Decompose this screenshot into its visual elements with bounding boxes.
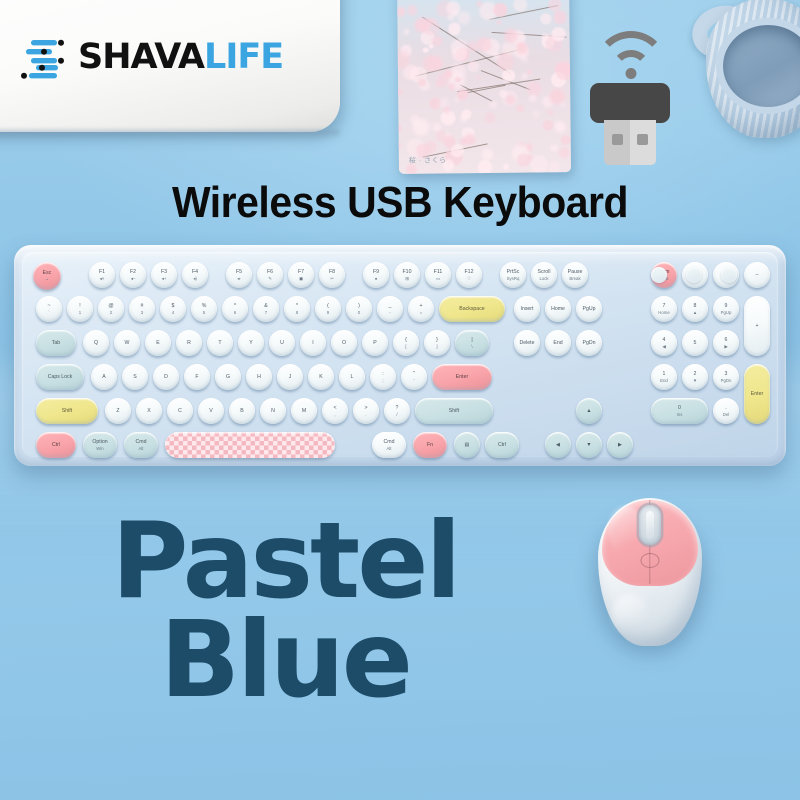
key-x[interactable]: X	[136, 398, 162, 424]
key-b[interactable]: B	[229, 398, 255, 424]
key-sublabel: .	[365, 412, 366, 417]
key-label: O	[342, 340, 346, 347]
key-label: ▲	[586, 408, 591, 415]
key-label: B	[240, 408, 243, 415]
key-key[interactable]: ~`	[36, 296, 62, 322]
key-f5[interactable]: F5◂-	[226, 262, 252, 288]
sakura-photo-card: 桜 · さくら	[397, 0, 571, 174]
key-key[interactable]: ^6	[222, 296, 248, 322]
key-label: 5	[694, 340, 697, 347]
key-g[interactable]: G	[215, 364, 241, 390]
key-ctrl[interactable]: Ctrl	[36, 432, 76, 458]
sakura-blossom	[448, 83, 455, 90]
key-f12[interactable]: F12♡	[456, 262, 482, 288]
key-sublabel: ⊞	[405, 276, 409, 281]
key-sublabel: 7	[265, 310, 267, 315]
key-enter[interactable]: Enter	[744, 364, 770, 424]
sakura-blossom	[413, 119, 430, 136]
key-e[interactable]: E	[145, 330, 171, 356]
key-label: A	[102, 374, 105, 381]
key-sublabel: 6	[234, 310, 236, 315]
key-sublabel: ▼	[693, 378, 697, 383]
sakura-blossom	[482, 149, 493, 160]
key-4[interactable]: 4◀	[651, 330, 677, 356]
key-q[interactable]: Q	[83, 330, 109, 356]
key-fn[interactable]: Fn	[413, 432, 447, 458]
key-key[interactable]: ▤	[454, 432, 480, 458]
key-v[interactable]: V	[198, 398, 224, 424]
key-t[interactable]: T	[207, 330, 233, 356]
sakura-blossom	[548, 0, 561, 11]
key-sublabel: -	[389, 310, 390, 315]
sakura-blossom	[397, 89, 402, 95]
key-shift[interactable]: Shift	[36, 398, 98, 424]
key-j[interactable]: J	[277, 364, 303, 390]
key-ctrl[interactable]: Ctrl	[485, 432, 519, 458]
key-key[interactable]: }]	[424, 330, 450, 356]
key-key[interactable]: |\	[455, 330, 489, 356]
key-f9[interactable]: F9●	[363, 262, 389, 288]
key-sublabel: ◂–	[131, 276, 136, 281]
key-cmd[interactable]: CmdAlt	[124, 432, 158, 458]
key-0[interactable]: 0Ins	[651, 398, 708, 424]
key-sublabel: Ins	[677, 412, 683, 417]
plug-hole-left	[612, 134, 623, 145]
key-label: Insert	[521, 306, 534, 313]
key-label: +	[755, 323, 758, 330]
key-esc[interactable]: Esc~	[33, 262, 61, 290]
key-label: L	[351, 374, 354, 381]
key-sublabel: ◂×	[100, 276, 105, 281]
key-sublabel: Alt	[386, 446, 391, 451]
key-key[interactable]: +	[744, 296, 770, 356]
dongle-usb-plug	[604, 120, 656, 165]
wireless-mouse[interactable]	[598, 498, 702, 650]
key-sublabel: 2	[110, 310, 112, 315]
key-sublabel: Break	[569, 276, 580, 281]
key-label: ▤	[465, 442, 470, 449]
key-sublabel: 1	[79, 310, 81, 315]
key-label: W	[125, 340, 130, 347]
key-cmd[interactable]: CmdAlt	[372, 432, 406, 458]
photo-caption: 桜 · さくら	[409, 155, 447, 165]
color-variant-line1: Pastel	[40, 512, 530, 611]
sakura-blossom	[533, 111, 540, 118]
key-sublabel: \	[471, 344, 472, 349]
key-label: Backspace	[459, 306, 484, 313]
key-pgup[interactable]: PgUp	[576, 296, 602, 322]
key-3[interactable]: 3PgDn	[713, 364, 739, 390]
key-label: Z	[116, 408, 119, 415]
sakura-blossom	[464, 134, 476, 146]
key-label: Fn	[427, 442, 433, 449]
sakura-blossom	[431, 35, 442, 46]
key-f7[interactable]: F7◼	[288, 262, 314, 288]
key-key[interactable]: ▶	[607, 432, 633, 458]
key-label: R	[187, 340, 191, 347]
key-sublabel: 3	[141, 310, 143, 315]
key-key[interactable]: )0	[346, 296, 372, 322]
key-label: X	[147, 408, 150, 415]
key-label: Delete	[520, 340, 535, 347]
key-label: S	[133, 374, 136, 381]
key-p[interactable]: P	[362, 330, 388, 356]
key-label: Tab	[52, 340, 60, 347]
key-k[interactable]: K	[308, 364, 334, 390]
key-key[interactable]: $4	[160, 296, 186, 322]
key-sublabel: Lock	[539, 276, 548, 281]
key-sublabel: 4	[172, 310, 174, 315]
key-z[interactable]: Z	[105, 398, 131, 424]
key-sublabel: ▭	[436, 276, 440, 281]
indicator-led-1	[651, 267, 667, 283]
sakura-blossom	[561, 135, 571, 145]
sakura-blossom	[468, 61, 479, 72]
key-label: End	[553, 340, 562, 347]
sakura-blossom	[504, 29, 517, 42]
key-sublabel: End	[660, 378, 668, 383]
ceramic-mug-prop	[690, 0, 800, 142]
usb-wireless-dongle-icon	[583, 31, 679, 167]
page-title: Wireless USB Keyboard	[28, 178, 772, 228]
key-8[interactable]: 8▲	[682, 296, 708, 322]
key-key[interactable]: >.	[353, 398, 379, 424]
key-label: Q	[94, 340, 98, 347]
sakura-blossom	[513, 0, 527, 12]
dpi-button[interactable]	[641, 553, 660, 568]
key-sublabel: '	[414, 378, 415, 383]
key-key[interactable]: :;	[370, 364, 396, 390]
key-key[interactable]: ▲	[576, 398, 602, 424]
wifi-dot	[626, 68, 637, 79]
key-key[interactable]: !1	[67, 296, 93, 322]
key-f1[interactable]: F1◂×	[89, 262, 115, 288]
plug-hole-right	[637, 134, 648, 145]
sakura-blossom	[556, 65, 571, 81]
sakura-blossom	[517, 153, 531, 167]
sakura-blossom	[540, 14, 551, 25]
sakura-blossom	[502, 164, 508, 170]
sakura-blossom	[422, 18, 440, 36]
key-key[interactable]: ▼	[576, 432, 602, 458]
key-key[interactable]: (9	[315, 296, 341, 322]
sakura-blossom	[551, 27, 565, 41]
sakura-blossom	[502, 70, 515, 83]
key-label: P	[373, 340, 376, 347]
key-label: U	[280, 340, 284, 347]
key-key[interactable]: "'	[401, 364, 427, 390]
key-sublabel: 0	[358, 310, 360, 315]
key-label: –	[756, 272, 759, 279]
mouse-lower-highlight	[612, 594, 648, 638]
key-caps-lock[interactable]: Caps Lock	[36, 364, 84, 390]
key-pause[interactable]: PauseBreak	[562, 262, 588, 288]
indicator-led-3	[721, 267, 737, 283]
sakura-blossom	[397, 125, 402, 132]
key-l[interactable]: L	[339, 364, 365, 390]
key-sublabel: ~	[46, 277, 49, 282]
sakura-blossom	[476, 75, 481, 80]
sakura-blossom	[517, 105, 525, 113]
key-u[interactable]: U	[269, 330, 295, 356]
dongle-body	[590, 83, 670, 123]
key-sublabel: /	[396, 412, 397, 417]
key-sublabel: ◼	[299, 276, 303, 281]
key-label: Y	[249, 340, 252, 347]
key-label: V	[209, 408, 212, 415]
brand-name-part2: LIFE	[204, 37, 283, 77]
sakura-blossom	[529, 94, 536, 101]
key-sublabel: Alt	[138, 446, 143, 451]
key-sublabel: ♡	[467, 276, 471, 281]
key-sublabel: 5	[203, 310, 205, 315]
key-f6[interactable]: F6✎	[257, 262, 283, 288]
sakura-blossom	[505, 95, 515, 105]
key-label: I	[312, 340, 313, 347]
key-5[interactable]: 5	[682, 330, 708, 356]
sakura-blossom	[551, 145, 557, 151]
key-sublabel: ,	[334, 412, 335, 417]
key-d[interactable]: D	[153, 364, 179, 390]
scroll-wheel[interactable]	[639, 505, 661, 545]
key-label: ▶	[618, 442, 622, 449]
key-sublabel: ✎	[268, 276, 272, 281]
key-sublabel: 9	[327, 310, 329, 315]
key-option[interactable]: OptionWin	[83, 432, 117, 458]
key-label: ◀	[556, 442, 560, 449]
sakura-blossom	[462, 109, 472, 119]
key-9[interactable]: 9PgUp	[713, 296, 739, 322]
key-label: K	[319, 374, 322, 381]
sakura-blossom	[484, 112, 495, 123]
key-sublabel: [	[405, 344, 406, 349]
key-sublabel: SysRq	[507, 276, 520, 281]
sakura-blossom	[407, 5, 418, 16]
key-key[interactable]: –	[744, 262, 770, 288]
key-label: PgDn	[583, 340, 596, 347]
key-sublabel: =	[420, 310, 423, 315]
sakura-blossom	[561, 102, 566, 107]
brand-logo: SHAVALIFE	[20, 34, 283, 80]
key-f[interactable]: F	[184, 364, 210, 390]
key-2[interactable]: 2▼	[682, 364, 708, 390]
key-sublabel: PgDn	[721, 378, 732, 383]
key-label: Ctrl	[498, 442, 506, 449]
sakura-blossom	[477, 160, 492, 174]
speed-dashes-icon	[20, 34, 66, 80]
key-label: N	[271, 408, 275, 415]
key-label: F	[195, 374, 198, 381]
key-h[interactable]: H	[246, 364, 272, 390]
sakura-blossom	[397, 7, 405, 16]
key-m[interactable]: M	[291, 398, 317, 424]
key-shift[interactable]: Shift	[415, 398, 493, 424]
key-c[interactable]: C	[167, 398, 193, 424]
sakura-blossom	[543, 120, 553, 130]
indicator-led-2	[686, 267, 702, 283]
sakura-blossom	[555, 121, 566, 132]
key-end[interactable]: End	[545, 330, 571, 356]
key-sublabel: ▲	[693, 310, 697, 315]
key-sublabel: ✂	[330, 276, 334, 281]
key-sublabel: ;	[382, 378, 383, 383]
sakura-blossom	[521, 55, 528, 62]
key-key[interactable]: #3	[129, 296, 155, 322]
sakura-blossom	[496, 19, 501, 24]
key-enter[interactable]: Enter	[432, 364, 492, 390]
brand-wordmark: SHAVALIFE	[78, 37, 283, 77]
key-label: G	[226, 374, 230, 381]
key-w[interactable]: W	[114, 330, 140, 356]
sakura-blossom	[547, 109, 554, 116]
key-scroll[interactable]: ScrollLock	[531, 262, 557, 288]
sakura-blossom	[457, 11, 470, 24]
key-backspace[interactable]: Backspace	[439, 296, 505, 322]
key-prtsc[interactable]: PrtScSysRq	[500, 262, 526, 288]
key-label: Caps Lock	[48, 374, 73, 381]
key-key[interactable]: ◀	[545, 432, 571, 458]
key-sublabel: ◂+	[162, 276, 167, 281]
sakura-blossom	[424, 141, 436, 153]
key-sublabel: ◀	[662, 344, 665, 349]
sakura-blossom	[451, 63, 467, 79]
key-1[interactable]: 1End	[651, 364, 677, 390]
key-label: Shift	[62, 408, 72, 415]
key-label: M	[302, 408, 306, 415]
key-sublabel: ]	[436, 344, 437, 349]
key-sublabel: 8	[296, 310, 298, 315]
key-label: C	[178, 408, 182, 415]
sakura-blossom	[418, 79, 426, 87]
sakura-blossom	[542, 34, 548, 40]
key-label: Home	[551, 306, 565, 313]
key-label: Ctrl	[52, 442, 60, 449]
sakura-blossom	[522, 73, 527, 78]
key-label: ▼	[586, 442, 591, 449]
sakura-blossom	[553, 11, 566, 24]
color-variant-line2: Blue	[40, 611, 530, 710]
key-key[interactable]: <,	[322, 398, 348, 424]
key-f10[interactable]: F10⊞	[394, 262, 420, 288]
key-key[interactable]: ?/	[384, 398, 410, 424]
key-key[interactable]: _-	[377, 296, 403, 322]
key-s[interactable]: S	[122, 364, 148, 390]
key-pgdn[interactable]: PgDn	[576, 330, 602, 356]
key-label: Enter	[456, 374, 468, 381]
wireless-keyboard[interactable]: Esc~F1◂×F2◂–F3◂+F4◂)F5◂-F6✎F7◼F8✂F9●F10⊞…	[14, 245, 786, 466]
key-label: D	[164, 374, 168, 381]
key-label: J	[289, 374, 292, 381]
key-label: T	[218, 340, 221, 347]
key-label: E	[156, 340, 159, 347]
key-delete[interactable]: Delete	[514, 330, 540, 356]
key-a[interactable]: A	[91, 364, 117, 390]
sakura-blossom	[530, 155, 548, 173]
key-home[interactable]: Home	[545, 296, 571, 322]
key-sublabel: Del	[723, 412, 729, 417]
key-6[interactable]: 6▶	[713, 330, 739, 356]
key-o[interactable]: O	[331, 330, 357, 356]
key-sublabel: PgUp	[721, 310, 732, 315]
key-tab[interactable]: Tab	[36, 330, 76, 356]
key-sublabel: Home	[658, 310, 669, 315]
key-sublabel: ●	[375, 276, 378, 281]
key-key[interactable]: +=	[408, 296, 434, 322]
key-label: Enter	[751, 391, 763, 398]
key-f8[interactable]: F8✂	[319, 262, 345, 288]
key-f2[interactable]: F2◂–	[120, 262, 146, 288]
key-key[interactable]: .Del	[713, 398, 739, 424]
key-f11[interactable]: F11▭	[425, 262, 451, 288]
key-7[interactable]: 7Home	[651, 296, 677, 322]
sakura-blossom	[549, 161, 561, 173]
key-sublabel: ◂)	[193, 276, 197, 281]
key-n[interactable]: N	[260, 398, 286, 424]
sakura-blossom	[451, 145, 464, 158]
sakura-blossom	[436, 73, 449, 86]
key-f3[interactable]: F3◂+	[151, 262, 177, 288]
brand-name-part1: SHAVA	[78, 37, 204, 77]
sakura-blossom	[457, 89, 468, 100]
key-key[interactable]: {[	[393, 330, 419, 356]
sakura-blossom	[527, 69, 532, 74]
key-key[interactable]: *8	[284, 296, 310, 322]
key-i[interactable]: I	[300, 330, 326, 356]
key-space[interactable]	[165, 432, 335, 458]
sakura-blossom	[448, 23, 460, 35]
key-label: H	[257, 374, 261, 381]
sakura-blossom	[559, 147, 570, 158]
key-f4[interactable]: F4◂)	[182, 262, 208, 288]
key-sublabel: Win	[96, 446, 103, 451]
key-label: PgUp	[583, 306, 596, 313]
key-y[interactable]: Y	[238, 330, 264, 356]
sakura-blossom	[490, 101, 498, 109]
color-variant-title: Pastel Blue	[40, 512, 530, 709]
key-key[interactable]: %5	[191, 296, 217, 322]
key-key[interactable]: &7	[253, 296, 279, 322]
key-insert[interactable]: Insert	[514, 296, 540, 322]
key-sublabel: `	[48, 310, 49, 315]
key-sublabel: ◂-	[237, 276, 241, 281]
sakura-blossom	[423, 47, 428, 52]
key-r[interactable]: R	[176, 330, 202, 356]
key-key[interactable]: @2	[98, 296, 124, 322]
sakura-blossom	[403, 29, 409, 35]
key-sublabel: ▶	[724, 344, 727, 349]
key-label: Shift	[449, 408, 459, 415]
